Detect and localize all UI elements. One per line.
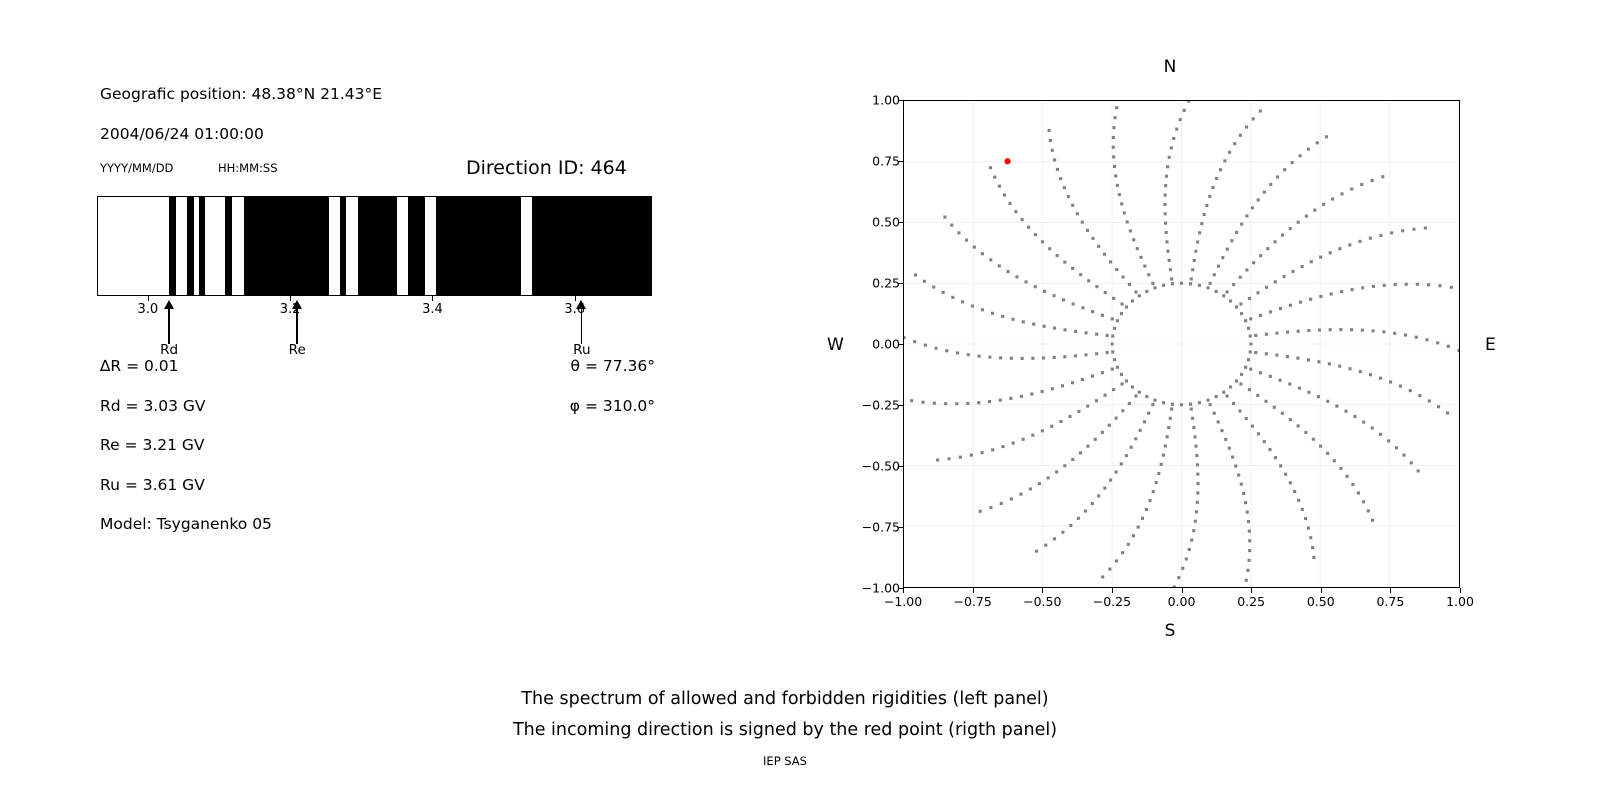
- scatter-point: [932, 286, 935, 289]
- scatter-point: [1371, 427, 1374, 430]
- forbidden-band: [436, 197, 521, 295]
- scatter-point: [948, 457, 951, 460]
- scatter-point: [1101, 431, 1104, 434]
- scatter-point: [1191, 417, 1194, 420]
- scatter-point: [1252, 261, 1255, 264]
- scatter-point: [1242, 492, 1245, 495]
- scatter-point: [1141, 517, 1144, 520]
- scatter-point: [1307, 391, 1310, 394]
- scatter-point: [1390, 231, 1393, 234]
- scatter-point: [1226, 248, 1229, 251]
- scatter-point: [1232, 283, 1235, 286]
- scatter-point: [1245, 268, 1248, 271]
- scatter-point: [1369, 373, 1372, 376]
- scatter-point: [1111, 317, 1114, 320]
- scatter-point: [1319, 445, 1322, 448]
- scatter-point: [1063, 261, 1066, 264]
- scatter-point: [1279, 307, 1282, 310]
- scatter-point: [1269, 375, 1272, 378]
- scatter-point: [1279, 464, 1282, 467]
- scatter-point: [1126, 220, 1129, 223]
- scatter-point: [1312, 438, 1315, 441]
- scatter-point: [1297, 424, 1300, 427]
- scatter-point: [1095, 399, 1098, 402]
- scatter-point: [1106, 351, 1109, 354]
- scatter-point: [955, 402, 958, 405]
- x-axis-labels: −1.00−0.75−0.50−0.250.000.250.500.751.00: [903, 588, 1460, 618]
- scatter-point: [1079, 273, 1082, 276]
- scatter-point: [1143, 265, 1146, 268]
- scatter-point: [1091, 502, 1094, 505]
- scatter-point: [991, 448, 994, 451]
- caption-line-1: The spectrum of allowed and forbidden ri…: [0, 684, 1570, 715]
- x-tick-mark: [1182, 588, 1183, 593]
- scatter-point: [1128, 402, 1131, 405]
- scatter-point: [998, 185, 1001, 188]
- scatter-point: [1248, 530, 1251, 533]
- scatter-point: [1248, 388, 1251, 391]
- scatter-point: [1084, 509, 1087, 512]
- scatter-point: [1283, 275, 1286, 278]
- scatter-point: [1245, 214, 1248, 217]
- scatter-point: [1233, 142, 1236, 145]
- scatter-point: [1387, 439, 1390, 442]
- scatter-point: [1200, 222, 1203, 225]
- scatter-point: [1162, 454, 1165, 457]
- scatter-point: [1249, 368, 1252, 371]
- scatter-point: [959, 456, 962, 459]
- scatter-point: [1350, 187, 1353, 190]
- scatter-point: [1049, 139, 1052, 142]
- scatter-point: [1289, 227, 1292, 230]
- scatter-point: [1010, 497, 1013, 500]
- scatter-point: [1053, 537, 1056, 540]
- scatter-point: [1079, 451, 1082, 454]
- scatter-point: [1322, 203, 1325, 206]
- scatter-point: [1244, 501, 1247, 504]
- scatter-point: [1077, 517, 1080, 520]
- scatter-point: [1220, 429, 1223, 432]
- param-theta: θ = 77.36°: [470, 357, 655, 375]
- scatter-point: [1165, 231, 1168, 234]
- scatter-point: [1301, 265, 1304, 268]
- scatter-point: [951, 296, 954, 299]
- scatter-point: [1240, 483, 1243, 486]
- x-tick-label: 0.50: [1307, 594, 1335, 609]
- scatter-point: [1147, 273, 1150, 276]
- param-delta-r: ∆R = 0.01: [100, 357, 179, 375]
- scatter-point: [1331, 197, 1334, 200]
- scatter-point: [1299, 154, 1302, 157]
- scatter-point: [1147, 412, 1150, 415]
- scatter-point: [1041, 390, 1044, 393]
- scatter-point: [1194, 520, 1197, 523]
- scatter-point: [1103, 487, 1106, 490]
- scatter-point: [1196, 473, 1199, 476]
- scatter-point: [1047, 476, 1050, 479]
- scatter-point: [1153, 286, 1156, 289]
- scatter-point: [1063, 328, 1066, 331]
- scatter-point: [1131, 385, 1134, 388]
- scatter-point: [1071, 267, 1074, 270]
- scatter-point: [1402, 454, 1405, 457]
- rigidity-marker-ru: Ru: [569, 296, 595, 356]
- scatter-point: [1151, 282, 1154, 285]
- scatter-point: [1116, 366, 1119, 369]
- scatter-point: [1000, 502, 1003, 505]
- scatter-point: [1217, 420, 1220, 423]
- scatter-point: [1035, 550, 1038, 553]
- rigidity-tick: [432, 296, 433, 301]
- rigidity-marker-rd: Rd: [156, 296, 182, 356]
- scatter-point: [1207, 399, 1210, 402]
- scatter-point: [989, 166, 992, 169]
- scatter-point: [1196, 240, 1199, 243]
- x-tick-mark: [1390, 588, 1391, 593]
- scatter-point: [989, 506, 992, 509]
- scatter-point: [1298, 387, 1301, 390]
- scatter-point: [1235, 379, 1238, 382]
- scatter-point: [1427, 283, 1430, 286]
- scatter-point: [1359, 370, 1362, 373]
- scatter-point: [1275, 354, 1278, 357]
- scatter-point: [1447, 345, 1450, 348]
- scatter-point: [1239, 134, 1242, 137]
- scatter-point: [989, 258, 992, 261]
- scatter-point: [1163, 203, 1166, 206]
- geographic-position-label: Geografic position: 48.38°N 21.43°E: [100, 85, 382, 103]
- x-tick-mark: [1042, 588, 1043, 593]
- x-tick-label: 0.00: [1168, 594, 1196, 609]
- marker-shaft: [581, 306, 582, 344]
- y-tick-label: 0.00: [872, 337, 900, 352]
- scatter-point: [1207, 286, 1210, 289]
- scatter-point: [1372, 329, 1375, 332]
- scatter-point: [1382, 330, 1385, 333]
- scatter-point: [1109, 479, 1112, 482]
- scatter-point: [1211, 186, 1214, 189]
- scatter-point: [1134, 437, 1137, 440]
- scatter-point: [1437, 405, 1440, 408]
- x-tick-label: −0.75: [953, 594, 991, 609]
- scatter-point: [1446, 411, 1449, 414]
- scatter-point: [1259, 314, 1262, 317]
- scatter-point: [1222, 391, 1225, 394]
- scatter-point: [1257, 198, 1260, 201]
- scatter-point: [1121, 551, 1124, 554]
- scatter-point: [1417, 469, 1420, 472]
- scatter-point: [1424, 227, 1427, 230]
- scatter-point: [1425, 338, 1428, 341]
- scatter-point: [1247, 358, 1250, 361]
- scatter-point: [1239, 276, 1242, 279]
- scatter-point: [910, 399, 913, 402]
- scatter-point: [1053, 327, 1056, 330]
- scatter-point: [1274, 456, 1277, 459]
- scatter-point: [943, 215, 946, 218]
- x-tick-label: −1.00: [884, 594, 922, 609]
- scatter-point: [1169, 417, 1172, 420]
- scatter-point: [1263, 191, 1266, 194]
- scatter-point: [1009, 202, 1012, 205]
- scatter-point: [934, 347, 937, 350]
- scatter-point: [1274, 240, 1277, 243]
- scatter-point: [1251, 206, 1254, 209]
- scatter-point: [1269, 183, 1272, 186]
- forbidden-band: [187, 197, 194, 295]
- scatter-point: [957, 231, 960, 234]
- scatter-point: [1059, 177, 1062, 180]
- scatter-point: [1275, 332, 1278, 335]
- scatter-point: [1291, 270, 1294, 273]
- scatter-point: [1191, 268, 1194, 271]
- scatter-point: [1307, 358, 1310, 361]
- y-tick-label: 0.50: [872, 215, 900, 230]
- param-model: Model: Tsyganenko 05: [100, 515, 272, 533]
- scatter-point: [1188, 548, 1191, 551]
- scatter-point: [1034, 285, 1037, 288]
- scatter-point: [1248, 297, 1251, 300]
- scatter-point: [1168, 259, 1171, 262]
- scatter-point: [1063, 355, 1066, 358]
- rigidity-tick-label: 3.4: [422, 302, 443, 317]
- scatter-point: [1309, 536, 1312, 539]
- scatter-point: [1259, 254, 1262, 257]
- scatter-point: [1061, 384, 1064, 387]
- incoming-direction-marker: [1004, 158, 1010, 164]
- scatter-point: [981, 451, 984, 454]
- scatter-point: [1111, 342, 1114, 345]
- scatter-point: [1209, 282, 1212, 285]
- scatter-point: [1215, 395, 1218, 398]
- scatter-point: [914, 273, 917, 276]
- scatter-point: [1394, 283, 1397, 286]
- scatter-point: [1171, 403, 1174, 406]
- scatter-point: [1010, 357, 1013, 360]
- scatter-point: [1148, 499, 1151, 502]
- scatter-point: [1151, 403, 1154, 406]
- scatter-point: [1351, 288, 1354, 291]
- scatter-point: [1043, 325, 1046, 328]
- scatter-point: [1189, 282, 1192, 285]
- scatter-point: [1168, 156, 1171, 159]
- scatter-point: [1164, 184, 1167, 187]
- scatter-point: [1381, 175, 1384, 178]
- scatter-point: [1329, 328, 1332, 331]
- scatter-point: [1041, 240, 1044, 243]
- scatter-point: [1113, 116, 1116, 119]
- scatter-point: [933, 402, 936, 405]
- scatter-point: [1326, 400, 1329, 403]
- scatter-point: [1109, 260, 1112, 263]
- y-tick-label: 0.75: [872, 154, 900, 169]
- scatter-point: [966, 402, 969, 405]
- datetime-label: 2004/06/24 01:00:00: [100, 125, 264, 143]
- scatter-point: [1232, 402, 1235, 405]
- scatter-point: [1340, 192, 1343, 195]
- scatter-point: [1125, 379, 1128, 382]
- scatter-point: [1127, 543, 1130, 546]
- compass-label-north: N: [1164, 57, 1177, 77]
- scatter-point: [923, 280, 926, 283]
- scatter-point: [1265, 333, 1268, 336]
- scatter-point: [1252, 117, 1255, 120]
- scatter-point: [1104, 291, 1107, 294]
- scatter-point: [1416, 283, 1419, 286]
- scatter-point: [967, 353, 970, 356]
- x-tick-mark: [1321, 588, 1322, 593]
- scatter-point: [1164, 212, 1167, 215]
- scatter-point: [1108, 568, 1111, 571]
- scatter-point: [1180, 282, 1183, 285]
- scatter-point: [1134, 395, 1137, 398]
- scatter-point: [1219, 168, 1222, 171]
- forbidden-band: [358, 197, 397, 295]
- scatter-point: [1003, 193, 1006, 196]
- scatter-point: [1226, 395, 1229, 398]
- scatter-point: [1339, 328, 1342, 331]
- scatter-point: [1190, 408, 1193, 411]
- scatter-point: [1240, 223, 1243, 226]
- scatter-point: [1121, 409, 1124, 412]
- scatter-point: [1358, 240, 1361, 243]
- scatter-point: [1249, 342, 1252, 345]
- scatter-point: [1246, 511, 1249, 514]
- rigidity-marker-re: Re: [284, 296, 310, 356]
- scatter-point: [1164, 194, 1167, 197]
- marker-arrowhead: [576, 300, 586, 309]
- forbidden-band: [408, 197, 426, 295]
- scatter-point: [1190, 539, 1193, 542]
- scatter-point: [1317, 395, 1320, 398]
- scatter-point: [1051, 387, 1054, 390]
- compass-label-east: E: [1485, 335, 1496, 355]
- y-axis-labels: −1.00−0.75−0.50−0.250.000.250.500.751.00: [830, 100, 900, 588]
- scatter-point: [1265, 352, 1268, 355]
- scatter-point: [1326, 452, 1329, 455]
- scatter-point: [1289, 304, 1292, 307]
- scatter-point: [1304, 431, 1307, 434]
- scatter-point: [1228, 151, 1231, 154]
- scatter-point: [1240, 312, 1243, 315]
- scatter-point: [1361, 286, 1364, 289]
- scatter-point: [1115, 268, 1118, 271]
- scatter-point: [1246, 569, 1249, 572]
- scatter-point: [1328, 362, 1331, 365]
- scatter-point: [1317, 360, 1320, 363]
- scatter-point: [1125, 305, 1128, 308]
- scatter-point: [1112, 155, 1115, 158]
- scatter-point: [1094, 438, 1097, 441]
- scatter-point: [1325, 135, 1328, 138]
- scatter-point: [1329, 251, 1332, 254]
- scatter-point: [1170, 408, 1173, 411]
- scatter-point: [1152, 490, 1155, 493]
- scatter-point: [1350, 328, 1353, 331]
- y-tick-label: −0.75: [862, 520, 900, 535]
- rigidity-axis: 3.03.23.43.6RdReRu: [97, 296, 654, 356]
- scatter-point: [1247, 520, 1250, 523]
- scatter-point: [999, 399, 1002, 402]
- scatter-point: [1086, 405, 1089, 408]
- scatter-point: [1165, 175, 1168, 178]
- scatter-point: [1185, 557, 1188, 560]
- scatter-point: [1020, 395, 1023, 398]
- scatter-point: [1081, 378, 1084, 381]
- scatter-point: [1113, 165, 1116, 168]
- scatter-point: [1234, 464, 1237, 467]
- scatter-point: [1162, 401, 1165, 404]
- scatter-point: [1265, 400, 1268, 403]
- scatter-point: [1281, 234, 1284, 237]
- scatter-point: [1029, 487, 1032, 490]
- scatter-point: [1339, 467, 1342, 470]
- scatter-point: [1213, 412, 1216, 415]
- scatter-point: [1055, 470, 1058, 473]
- scatter-point: [1112, 136, 1115, 139]
- scatter-point: [1011, 318, 1014, 321]
- scatter-point: [1405, 283, 1408, 286]
- scatter-point: [1001, 445, 1004, 448]
- scatter-point: [1266, 247, 1269, 250]
- scatter-point: [1249, 317, 1252, 320]
- scatter-point: [1063, 186, 1066, 189]
- x-tick-mark: [903, 588, 904, 593]
- direction-id-label: Direction ID: 464: [466, 157, 627, 179]
- forbidden-band: [199, 197, 205, 295]
- scatter-point: [1273, 406, 1276, 409]
- scatter-point: [1095, 333, 1098, 336]
- scatter-point: [1071, 381, 1074, 384]
- scatter-point: [1167, 426, 1170, 429]
- scatter-point: [1095, 352, 1098, 355]
- date-format-hint: YYYY/MM/DD: [100, 161, 173, 175]
- scatter-point: [1395, 446, 1398, 449]
- marker-label: Ru: [573, 342, 590, 358]
- scatter-point: [1268, 448, 1271, 451]
- scatter-point: [1116, 319, 1119, 322]
- scatter-point: [1208, 195, 1211, 198]
- scatter-point: [1012, 442, 1015, 445]
- scatter-point: [1086, 229, 1089, 232]
- scatter-point: [1071, 204, 1074, 207]
- scatter-point: [1101, 314, 1104, 317]
- scatter-point: [1369, 237, 1372, 240]
- scatter-point: [1164, 222, 1167, 225]
- scatter-point: [1203, 213, 1206, 216]
- scatter-point: [1244, 366, 1247, 369]
- forbidden-band: [340, 197, 346, 295]
- scatter-point: [1160, 463, 1163, 466]
- scatter-point: [1196, 482, 1199, 485]
- scatter-point: [1143, 420, 1146, 423]
- direction-scatter-plot: [903, 100, 1460, 588]
- scatter-point: [1137, 526, 1140, 529]
- scatter-point: [1087, 279, 1090, 282]
- scatter-point: [1307, 527, 1310, 530]
- scatter-svg: [904, 101, 1459, 587]
- scatter-point: [991, 312, 994, 315]
- scatter-point: [1299, 301, 1302, 304]
- x-tick-mark: [973, 588, 974, 593]
- scatter-point: [1072, 302, 1075, 305]
- scatter-point: [1362, 500, 1365, 503]
- scatter-point: [1103, 394, 1106, 397]
- scatter-point: [1239, 303, 1242, 306]
- y-tick-label: 0.25: [872, 276, 900, 291]
- scatter-point: [1286, 355, 1289, 358]
- scatter-point: [1297, 221, 1300, 224]
